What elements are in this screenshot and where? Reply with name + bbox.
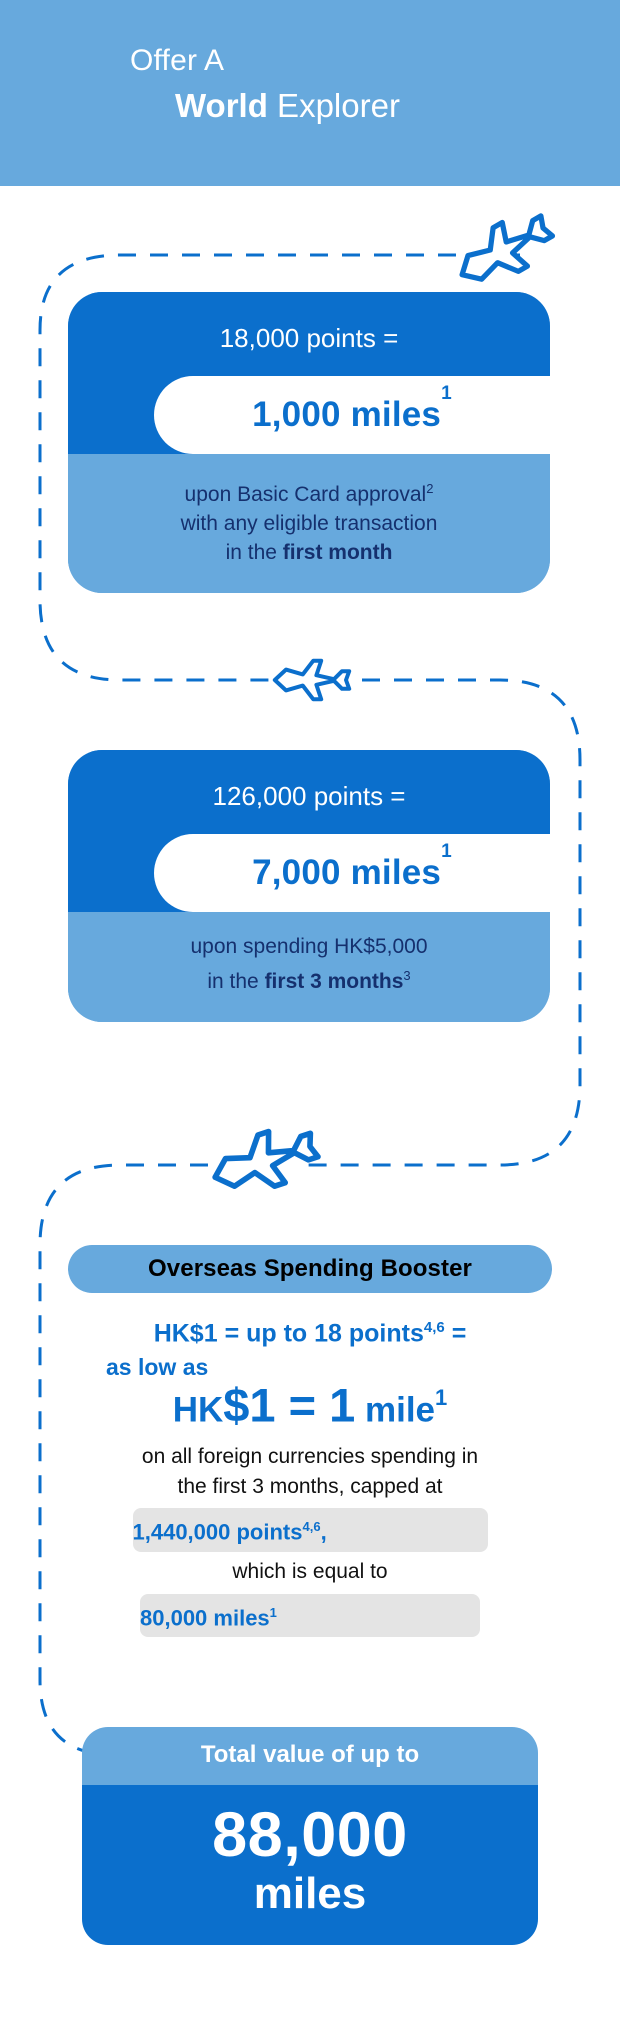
card-2-top: 126,000 points = 7,000 miles1 — [68, 750, 550, 912]
booster-title-pill: Overseas Spending Booster — [68, 1245, 552, 1293]
card-1-miles-pill: 1,000 miles1 — [154, 376, 550, 454]
card-2-pill-wrap: 7,000 miles1 — [68, 834, 550, 912]
card-2-note: upon spending HK$5,000 in the first 3 mo… — [68, 912, 550, 1022]
card-2-miles-text: 7,000 miles1 — [252, 853, 452, 893]
booster-note: on all foreign currencies spending in th… — [68, 1442, 552, 1502]
card-1-points-label: 18,000 points = — [68, 322, 550, 376]
card-1-miles-value: 1,000 miles — [252, 395, 441, 434]
card-1-miles-sup: 1 — [441, 383, 452, 404]
booster-big-amount: $1 = 1 — [223, 1379, 355, 1432]
booster-cap-points-chip: 1,440,000 points4,6, — [133, 1508, 488, 1551]
card-2-points-label: 126,000 points = — [68, 780, 550, 834]
booster-cap-points: 1,440,000 points — [133, 1520, 303, 1545]
booster-big-unit: mile — [355, 1391, 435, 1430]
card-2-miles-value: 7,000 miles — [252, 853, 441, 892]
total-value-block: Total value of up to 88,000 miles — [82, 1727, 538, 1945]
header-product-name: World Explorer — [130, 84, 620, 128]
card-2-miles-sup: 1 — [441, 841, 452, 862]
header-product-bold: World — [175, 87, 268, 124]
card-1-note: upon Basic Card approval2 with any eligi… — [68, 454, 550, 593]
booster-big-rate: as low as HK$1 = 1 mile1 — [68, 1358, 552, 1428]
total-unit: miles — [82, 1869, 538, 1919]
card-1-note-line2: with any eligible transaction — [181, 512, 438, 535]
card-2-note-line1: upon spending HK$5,000 — [190, 935, 427, 958]
card-2-miles-pill: 7,000 miles1 — [154, 834, 550, 912]
overseas-spending-booster: Overseas Spending Booster HK$1 = up to 1… — [68, 1245, 552, 1637]
booster-big-hk: HK — [173, 1391, 224, 1430]
header-banner: Offer A World Explorer — [0, 0, 620, 186]
booster-cap-points-sup: 4,6 — [302, 1519, 320, 1534]
booster-note-line1: on all foreign currencies spending in — [142, 1445, 478, 1468]
airplane-icon — [275, 661, 349, 699]
card-1-top: 18,000 points = 1,000 miles1 — [68, 292, 550, 454]
card-2-note-line3-prefix: in the — [207, 970, 264, 993]
booster-cap-miles: 80,000 miles — [140, 1605, 270, 1630]
booster-rate-sup: 4,6 — [424, 1319, 445, 1336]
booster-middle-note: which is equal to — [68, 1556, 552, 1588]
booster-rate-text: HK$1 = up to 18 points — [154, 1319, 424, 1347]
offer-card-2: 126,000 points = 7,000 miles1 upon spend… — [68, 750, 550, 1022]
total-amount: 88,000 — [82, 1801, 538, 1869]
card-1-pill-wrap: 1,000 miles1 — [68, 376, 550, 454]
card-1-note-line1: upon Basic Card approval — [185, 483, 427, 506]
booster-note-line2: the first 3 months, capped at — [178, 1475, 443, 1498]
card-2-note-line3-sup: 3 — [403, 968, 410, 983]
card-1-note-sup1: 2 — [426, 481, 433, 496]
header-product-rest: Explorer — [268, 87, 400, 124]
total-body: 88,000 miles — [82, 1785, 538, 1945]
offer-card-1: 18,000 points = 1,000 miles1 upon Basic … — [68, 292, 550, 593]
booster-big-sup: 1 — [435, 1385, 447, 1410]
booster-cap-points-suffix: , — [321, 1520, 327, 1545]
booster-rate-line: HK$1 = up to 18 points4,6 = — [68, 1319, 552, 1348]
card-1-note-line3-prefix: in the — [226, 541, 283, 564]
booster-rate-suffix: = — [445, 1319, 467, 1347]
booster-big-line: HK$1 = 1 mile1 — [68, 1370, 552, 1439]
header-offer-label: Offer A — [130, 42, 620, 80]
airplane-icon — [207, 1119, 323, 1202]
infographic-page: Offer A World Explorer 18,000 points = — [0, 0, 620, 2020]
card-2-note-line3-bold: first 3 months — [265, 970, 404, 993]
total-heading: Total value of up to — [82, 1727, 538, 1785]
booster-cap-miles-chip: 80,000 miles1 — [140, 1594, 480, 1637]
booster-cap-miles-sup: 1 — [270, 1605, 277, 1620]
card-1-miles-text: 1,000 miles1 — [252, 395, 452, 435]
card-1-note-line3-bold: first month — [283, 541, 393, 564]
airplane-icon — [449, 204, 559, 296]
